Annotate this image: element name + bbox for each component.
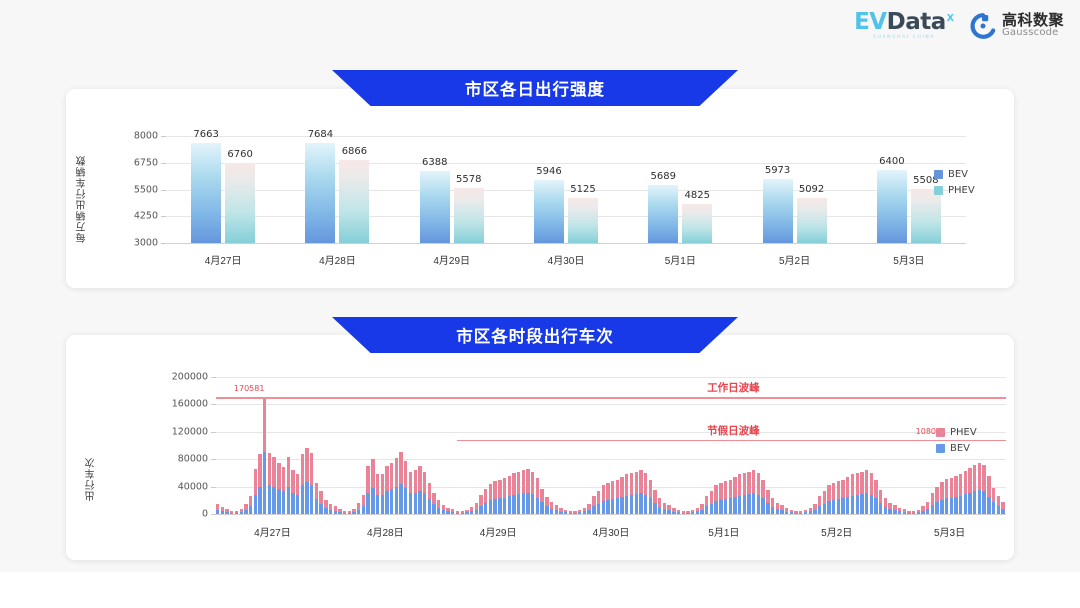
chart2-bar-bev [230,513,233,514]
chart1-legend-label: BEV [948,169,968,180]
chart2-annotation-label: 节假日波峰 [707,423,760,438]
chart2-bar-bev [888,509,891,514]
chart2-bar-bev [870,495,873,514]
chart2-bar-bev [428,499,431,514]
chart-card-hourly-trips: 出行车次 04000080000120000160000200000 工作日波峰… [66,335,1014,560]
chart2-bar-bev [903,512,906,514]
chart2-bar-bev [710,504,713,514]
chart2-bar-bev [291,493,294,514]
chart2-bar-bev [432,504,435,514]
chart2-bar-bev [832,500,835,514]
chart1-legend: BEVPHEV [934,169,975,196]
chart2-bar-phev [649,480,652,498]
section-title-2: 市区各时段出行车次 [456,323,614,347]
chart1-bar-value: 6388 [422,157,447,168]
chart2-bar-bev [244,510,247,514]
chart2-bar-phev [874,480,877,498]
chart2-bar-phev [724,481,727,499]
chart2-bar-phev [395,458,398,487]
chart2-bar-phev [489,484,492,500]
evdata-logo: EVData x SHANGHAI CHINA [854,11,954,41]
chart2-bar-phev [432,493,435,504]
evdata-primary: EV [854,9,887,35]
chart2-bar-phev [827,485,830,501]
chart2-bar-bev [352,512,355,514]
chart2-bar-phev [428,483,431,499]
chart2-bar-phev [738,474,741,495]
chart2-bar-bev [305,482,308,514]
chart2-bar-phev [841,480,844,498]
chart2-bar-bev [663,509,666,514]
chart2-bar-bev [592,506,595,514]
chart1-y-axis-label: 每万辆出行车辆数 [75,139,90,243]
chart2-bar-bev [357,510,360,514]
chart2-bar-bev [931,505,934,514]
chart2-annotation-line [457,440,1006,441]
chart2-bar-phev [766,490,769,503]
chart2-bar-phev [846,477,849,497]
chart2-bar-bev [319,504,322,514]
chart2-bar-bev [776,509,779,514]
chart2-legend-swatch [936,444,945,453]
chart2-bar-bev [282,491,285,514]
chart2-bar-bev [338,512,341,514]
chart2-bar-bev [578,512,581,514]
chart2-bar-phev [390,463,393,489]
chart1-bar-bev: 7663 [191,143,221,243]
chart1-bar-value: 5092 [799,184,824,195]
chart2-bar-bev [324,508,327,514]
chart2-bar-phev [366,466,369,493]
chart2-bar-bev [404,488,407,514]
chart2-bar-phev [399,452,402,484]
chart2-bar-bev [470,511,473,514]
chart1-legend-item: BEV [934,169,975,180]
chart1-x-tick: 4月28日 [319,252,356,267]
chart2-bar-bev [860,494,863,514]
chart2-bar-phev [851,474,854,495]
chart1-bar-group: 76636760 [166,136,280,243]
chart2-bar-bev [263,452,266,514]
chart2-bar-bev [747,494,750,514]
chart2-bar-bev [512,495,515,514]
chart2-bar-bev [423,493,426,514]
chart2-bar-bev [564,512,567,514]
chart1-x-tick: 4月27日 [205,252,242,267]
chart2-bar-phev [315,483,318,499]
chart2-bar-phev [823,491,826,504]
chart1-y-tick: 3000 [98,238,158,249]
chart2-bar-phev [747,472,750,495]
chart2-bar-phev [733,477,736,497]
chart2-bar-bev [329,510,332,514]
chart1-bar-phev: 5092 [797,198,827,243]
chart2-bar-bev [809,511,812,514]
chart2-bar-phev [935,487,938,502]
chart2-bar-bev [856,495,859,514]
chart2-bar-phev [856,473,859,495]
chart2-y-tick: 0 [138,509,208,520]
chart2-bar-phev [639,470,642,493]
chart2-bar-bev [921,511,924,514]
chart2-bar-bev [508,496,511,514]
gausscode-en: Gausscode [1002,28,1064,39]
chart2-bar-phev [385,466,388,491]
chart2-annotation-label: 工作日波峰 [707,380,760,395]
chart2-bar-bev [395,487,398,514]
chart2-bar-bev [780,510,783,514]
section-banner-hourly-trips: 市区各时段出行车次 [332,317,738,353]
chart2-bar-bev [381,495,384,514]
gausscode-text: 高科数聚 Gausscode [1002,13,1064,39]
chart2-bar-bev [719,500,722,514]
chart2-bar-bev [409,493,412,514]
chart2-bar-bev [790,512,793,514]
chart2-bar-phev [837,481,840,499]
chart2-bar-bev [973,491,976,514]
chart2-bar-bev [418,491,421,514]
chart2-bar-bev [785,512,788,514]
chart2-bar-phev [818,496,821,506]
chart1-bar-value: 5125 [570,184,595,195]
chart2-bar-phev [404,461,407,488]
chart2-bar-bev [484,503,487,514]
chart2-bar-phev [592,496,595,506]
chart1-bar-phev: 5508 [911,189,941,243]
chart2-bar-phev [620,477,623,497]
chart-card-daily-intensity: 每万辆出行车辆数 30004250550067508000 7663676076… [66,89,1014,288]
chart1-bar-value: 7663 [193,129,218,140]
chart1-bar-bev: 6400 [877,170,907,243]
chart2-bar-bev [653,503,656,514]
chart2-bar-bev [366,493,369,514]
chart2-bar-bev [221,511,224,514]
chart2-bar-bev [569,513,572,514]
chart2-bar-bev [602,501,605,514]
chart2-bar-phev [512,473,515,495]
chart2-bar-phev [479,495,482,506]
chart2-y-axis-label: 出行车次 [84,397,99,501]
chart2-bar-phev [644,473,647,495]
chart1-legend-item: PHEV [934,185,975,196]
chart2-bar-phev [319,491,322,503]
chart2-legend-label: PHEV [950,427,977,438]
chart2-bar-bev [235,513,238,514]
chart2-bar-phev [522,470,525,493]
chart2-bar-bev [837,499,840,514]
chart1-bar-value: 4825 [685,190,710,201]
chart1-legend-label: PHEV [948,185,975,196]
chart2-bar-phev [606,483,609,500]
chart2-bar-bev [978,490,981,514]
chart2-bar-phev [752,470,755,493]
chart1-bar-value: 5973 [765,165,790,176]
chart2-y-tick: 40000 [138,481,208,492]
chart2-bar-phev [616,480,619,498]
chart2-bar-phev [371,459,374,488]
chart2-bar-phev [282,467,285,491]
evdata-subtitle: SHANGHAI CHINA [873,36,935,41]
chart2-bar-phev [714,485,717,501]
chart2-bar-phev [879,490,882,503]
chart2-bar-phev [710,491,713,504]
chart2-bar-bev [362,506,365,514]
chart2-bar-bev [799,513,802,514]
chart2-bar-bev [376,495,379,514]
chart2-x-tick: 5月2日 [821,524,852,539]
chart2-bar-phev [277,463,280,489]
chart2-bar-bev [893,510,896,514]
chart2-bar-bev [879,503,882,514]
chart2-bar-phev [743,473,746,495]
chart2-bar-bev [682,513,685,514]
chart2-bar-phev [287,457,290,486]
chart2-bar-phev [536,478,539,497]
chart2-bar-bev [315,499,318,514]
chart1-gridline [166,243,966,244]
chart2-bar-phev [484,489,487,503]
chart2-bar-phev [545,497,548,507]
chart2-legend-item: PHEV [936,427,977,438]
chart2-y-tick: 200000 [138,372,208,383]
chart2-bar-bev [705,506,708,514]
chart2-bar-bev [216,510,219,514]
chart2-y-tick: 160000 [138,399,208,410]
chart2-bar-bev [517,494,520,514]
chart2-bar-bev [677,512,680,514]
chart2-bar-bev [964,494,967,514]
chart2-bar-bev [700,510,703,514]
chart2-legend-label: BEV [950,443,970,454]
chart2-bar-bev [846,497,849,514]
chart2-bar-bev [456,513,459,514]
chart2-bar-phev [832,483,835,500]
chart1-bar-group: 59735092 [737,136,851,243]
chart2-bar-phev [597,491,600,504]
section-title-1: 市区各日出行强度 [465,76,605,100]
chart2-x-tick: 5月3日 [934,524,965,539]
chart2-bar-bev [503,498,506,514]
chart2-x-tick: 4月30日 [593,524,630,539]
chart2-bar-bev [743,495,746,514]
chart2-bar-phev [997,496,1000,506]
chart2-bar-phev [324,500,327,508]
chart2-bar-bev [667,510,670,514]
chart2-bar-phev [291,470,294,493]
chart2-bar-phev [973,465,976,491]
chart2-bar-bev [587,510,590,514]
chart2-bar-phev [860,472,863,495]
chart2-bar-phev [940,482,943,500]
chart1-bar-bev: 5689 [648,185,678,243]
chart2-bar-bev [399,484,402,514]
chart2-bar-bev [611,499,614,514]
chart2-bar-bev [489,500,492,514]
chart2-bar-phev [602,485,605,501]
chart2-bar-phev [987,476,990,497]
chart2-bar-phev [931,493,934,505]
chart1-bar-value: 6866 [342,146,367,157]
chart2-bar-phev [418,466,421,491]
chart2-bar-bev [625,496,628,514]
chart2-bar-phev [959,474,962,496]
chart2-legend: PHEVBEV [936,427,977,454]
chart2-bar-phev [964,471,967,494]
chart1-bar-value: 6400 [879,156,904,167]
chart2-y-tick: 80000 [138,454,208,465]
chart2-bar-bev [696,511,699,514]
chart2-bar-phev [630,473,633,495]
chart2-bar-bev [813,510,816,514]
chart2-bar-phev [771,498,774,507]
chart2-bar-phev [409,472,412,494]
chart2-bar-bev [649,498,652,514]
chart2-bar-bev [766,503,769,514]
chart2-bar-bev [926,509,929,514]
chart2-bar-phev [508,476,511,497]
chart2-bar-bev [555,510,558,514]
chart1-bar-value: 5946 [536,166,561,177]
chart2-bar-bev [898,511,901,514]
chart2-bar-bev [526,493,529,514]
chart2-bar-phev [635,472,638,495]
chart2-bar-bev [714,501,717,514]
logo-group: EVData x SHANGHAI CHINA 高科数聚 Gausscode [854,11,1064,41]
chart2-bar-phev [954,476,957,497]
chart2-bar-bev [310,485,313,514]
chart2-bar-bev [968,493,971,514]
chart1-bar-bev: 5973 [763,179,793,243]
chart2-bar-phev [272,457,275,486]
chart2-bar-bev [672,512,675,514]
chart2-x-tick: 4月29日 [480,524,517,539]
chart2-bar-bev [240,512,243,514]
chart2-bar-bev [757,495,760,514]
chart1-bar-phev: 5125 [568,198,598,243]
chart2-x-tick: 4月27日 [254,524,291,539]
gausscode-mark-icon [970,13,996,39]
chart2-bar-phev [982,465,985,491]
chart2-bar-phev [625,474,628,495]
chart2-bar-bev [724,499,727,514]
chart2-bar-phev [263,398,266,453]
chart2-bar-phev [258,454,261,486]
chart2-annotation-line [216,397,1006,398]
chart2-bar-phev [437,500,440,508]
chart2-bar-bev [935,502,938,514]
chart2-bar-bev [686,513,689,514]
chart1-x-tick: 4月29日 [433,252,470,267]
chart2-bar-bev [804,512,807,514]
chart1-bar-group: 59465125 [509,136,623,243]
chart2-bar-bev [823,504,826,514]
chart1-bar-phev: 4825 [682,204,712,243]
chart2-bar-bev [343,513,346,514]
chart2-bar-phev [729,480,732,498]
chart2-bar-phev [884,498,887,507]
chart2-bar-bev [296,495,299,514]
chart2-bar-bev [272,487,275,514]
chart1-bar-value: 7684 [308,129,333,140]
chart2-bar-bev [950,498,953,514]
chart1-x-tick: 5月1日 [665,252,696,267]
chart2-bar-bev [691,512,694,514]
gausscode-cn: 高科数聚 [1002,13,1064,29]
chart2-bar-bev [992,502,995,514]
chart2-bar-bev [498,498,501,514]
chart2-bar-phev [950,478,953,498]
chart2-bar-bev [385,491,388,514]
chart2-bar-phev [414,470,417,493]
chart2-bar-bev [616,498,619,514]
chart2-bar-bev [522,493,525,514]
chart2-bar-bev [475,510,478,514]
chart2-bar-phev [611,481,614,499]
chart2-bar-phev [1001,502,1004,509]
chart2-bar-bev [597,504,600,514]
chart2-bar-bev [620,497,623,514]
chart2-bar-phev [362,495,365,506]
chart2-bar-phev [423,472,426,494]
chart1-bar-value: 5689 [651,171,676,182]
chart2-x-tick: 5月1日 [708,524,739,539]
chart1-bar-phev: 5578 [454,188,484,243]
chart2-bar-bev [437,508,440,514]
chart2-bar-bev [729,498,732,514]
chart2-bar-bev [258,487,261,514]
chart2-bar-phev [526,469,529,493]
chart2-bar-bev [945,498,948,514]
chart2-bar-bev [277,489,280,514]
evdata-x-icon: x [947,10,954,23]
chart2-bar-bev [940,500,943,514]
chart2-bar-bev [371,488,374,514]
chart2-peak-value-weekday: 170581 [234,384,265,393]
chart2-bar-bev [630,495,633,514]
chart2-bar-bev [451,512,454,514]
chart2-bar-bev [390,489,393,514]
chart2-bar-bev [334,511,337,514]
chart2-bar-phev [540,489,543,503]
chart2-bar-bev [818,506,821,514]
chart2-bar-bev [997,506,1000,514]
chart1-x-tick: 5月2日 [779,252,810,267]
chart2-bar-phev [945,479,948,498]
chart2-bar-bev [752,493,755,514]
chart2-bar-phev [653,490,656,503]
chart1-x-tick: 4月30日 [548,252,585,267]
chart2-bar-bev [573,513,576,514]
chart2-bar-bev [493,499,496,514]
chart1-y-tick: 4250 [98,211,158,222]
chart2-bar-bev [987,497,990,514]
chart2-bar-bev [606,500,609,514]
evdata-wordmark: EVData x [854,11,954,34]
chart2-bar-phev [493,481,496,499]
chart2-bar-bev [287,487,290,514]
chart2-bar-phev [268,453,271,485]
chart2-bar-phev [517,472,520,495]
page-header: EVData x SHANGHAI CHINA 高科数聚 Gausscode [0,0,1080,58]
chart2-bar-bev [442,510,445,514]
chart2-legend-swatch [936,428,945,437]
section-banner-daily-intensity: 市区各日出行强度 [332,70,738,106]
chart2-bar-bev [917,512,920,514]
chart2-bar-phev [503,478,506,497]
chart2-bar-bev [465,512,468,514]
chart2-bar-bev [884,507,887,514]
chart2-bar-bev [851,496,854,514]
